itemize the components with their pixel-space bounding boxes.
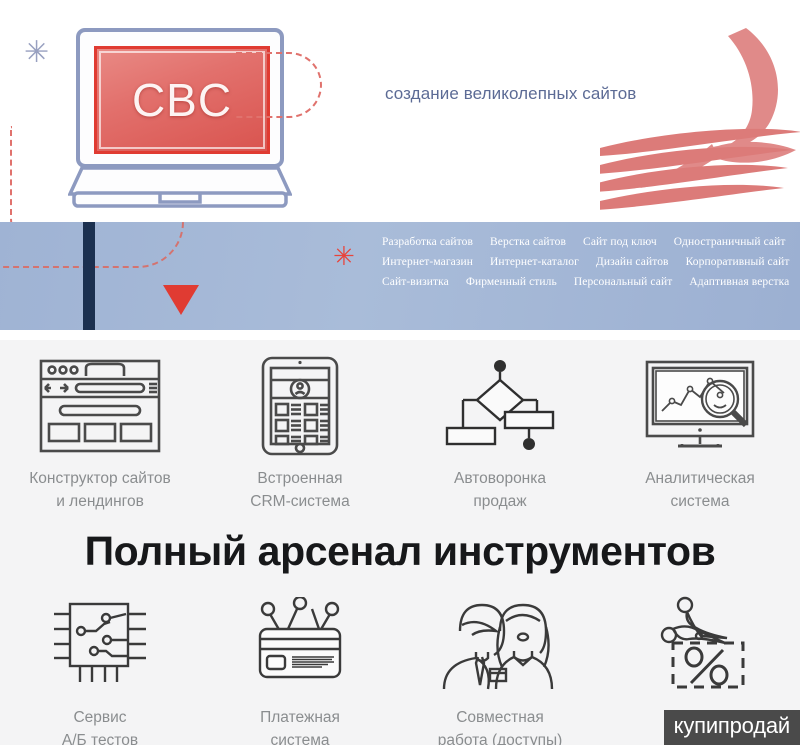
feature-sales-funnel: Автоворонка продаж [400, 354, 600, 514]
laptop-base [68, 164, 292, 208]
keyword-tag[interactable]: Сайт под ключ [583, 236, 657, 248]
keywords-banner: ✳ Разработка сайтов Верстка сайтов Сайт … [0, 222, 800, 330]
browser-window-icon [38, 354, 162, 458]
keyword-tag[interactable]: Разработка сайтов [382, 236, 473, 248]
asterisk-star-icon: ✳ [24, 38, 49, 68]
keyword-tag[interactable]: Интернет-каталог [490, 256, 579, 268]
dashed-connector-right [236, 52, 322, 118]
keyword-tag-row: Разработка сайтов Верстка сайтов Сайт по… [382, 236, 792, 248]
keyword-tag[interactable]: Фирменный стиль [466, 276, 557, 288]
monitor-analytics-icon [644, 354, 756, 458]
keyword-tag[interactable]: Верстка сайтов [490, 236, 566, 248]
tablet-crm-icon [260, 354, 340, 458]
keyword-tag[interactable]: Адаптивная верстка [689, 276, 789, 288]
red-asterisk-star-icon: ✳ [333, 244, 355, 270]
feature-crm: Встроенная CRM-система [200, 354, 400, 514]
keyword-tag-row: Сайт-визитка Фирменный стиль Персональны… [382, 276, 792, 288]
keyword-tag[interactable]: Одностраничный сайт [674, 236, 786, 248]
dashed-connector-left [10, 126, 86, 222]
keyword-tag[interactable]: Персональный сайт [574, 276, 673, 288]
feature-label: Конструктор сайтов и лендингов [29, 468, 171, 514]
promo-banner-image: ✳ CBC [0, 0, 800, 745]
logo-text: CBC [132, 73, 232, 127]
watermark-badge: купипродай [664, 710, 800, 745]
feature-label: Аналитическая система [645, 468, 755, 514]
scissors-coupon-icon [647, 593, 753, 697]
features-panel: Конструктор сайтов и лендингов [0, 340, 800, 745]
feature-site-builder: Конструктор сайтов и лендингов [0, 354, 200, 514]
two-people-icon [438, 593, 562, 697]
page-title: Полный арсенал инструментов [0, 514, 800, 587]
laptop-base-shape [68, 164, 292, 208]
feature-label: Автоворонка продаж [454, 468, 546, 514]
features-row-top: Конструктор сайтов и лендингов [0, 340, 800, 514]
credit-card-crown-icon [248, 593, 352, 697]
keyword-tag[interactable]: Дизайн сайтов [596, 256, 669, 268]
keyword-tag[interactable]: Сайт-визитка [382, 276, 449, 288]
feature-payment: Платежная система [200, 593, 400, 745]
keyword-tag-row: Интернет-магазин Интернет-каталог Дизайн… [382, 256, 792, 268]
feature-label: Совместная работа (доступы) [438, 707, 563, 745]
keyword-tag[interactable]: Корпоративный сайт [686, 256, 790, 268]
hero-section: ✳ CBC [0, 0, 800, 222]
feature-label: Сервис А/Б тестов [62, 707, 138, 745]
keyword-tag-list: Разработка сайтов Верстка сайтов Сайт по… [382, 236, 792, 296]
keyword-tag[interactable]: Интернет-магазин [382, 256, 473, 268]
flowchart-funnel-icon [445, 354, 555, 458]
feature-ab-testing: Сервис А/Б тестов [0, 593, 200, 745]
hero-tagline: создание великолепных сайтов [385, 84, 725, 104]
down-arrow-icon [163, 285, 199, 315]
feature-label: Встроенная CRM-система [250, 468, 349, 514]
feature-collaboration: Совместная работа (доступы) [400, 593, 600, 745]
red-swoosh-decoration [600, 18, 800, 218]
feature-analytics: Аналитическая система [600, 354, 800, 514]
vertical-dark-bar [83, 222, 95, 330]
microchip-icon [48, 593, 152, 697]
feature-label: Платежная система [260, 707, 340, 745]
